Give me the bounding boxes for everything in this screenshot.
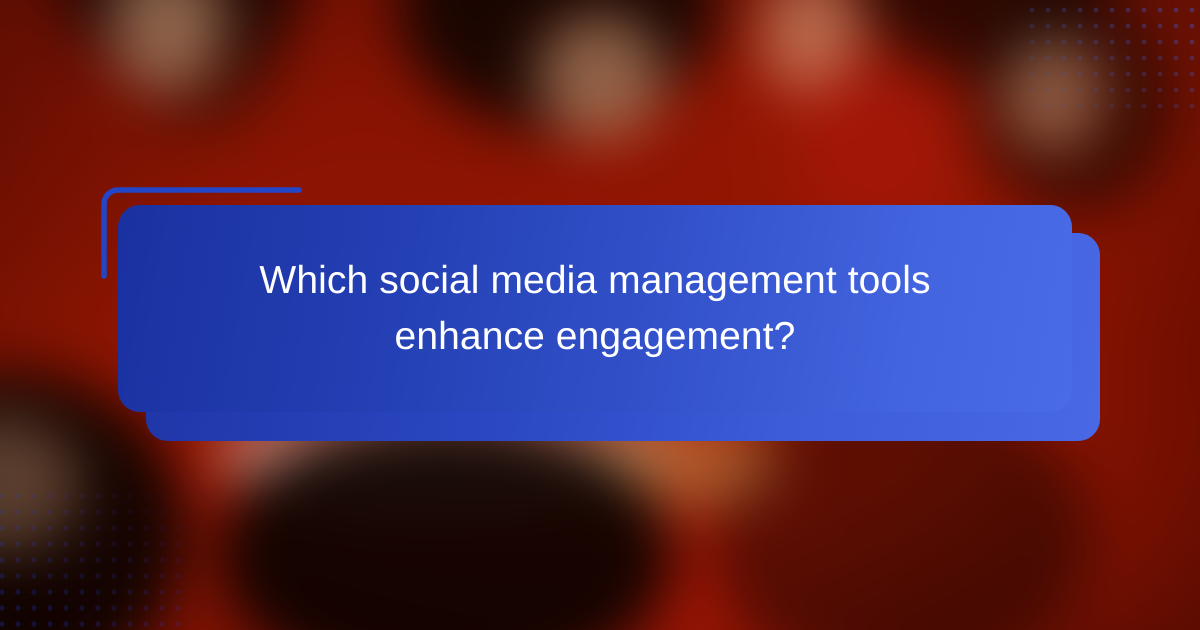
- question-card: Which social media management tools enha…: [118, 205, 1072, 412]
- social-card-canvas: Which social media management tools enha…: [0, 0, 1200, 630]
- card-headline: Which social media management tools enha…: [205, 253, 985, 364]
